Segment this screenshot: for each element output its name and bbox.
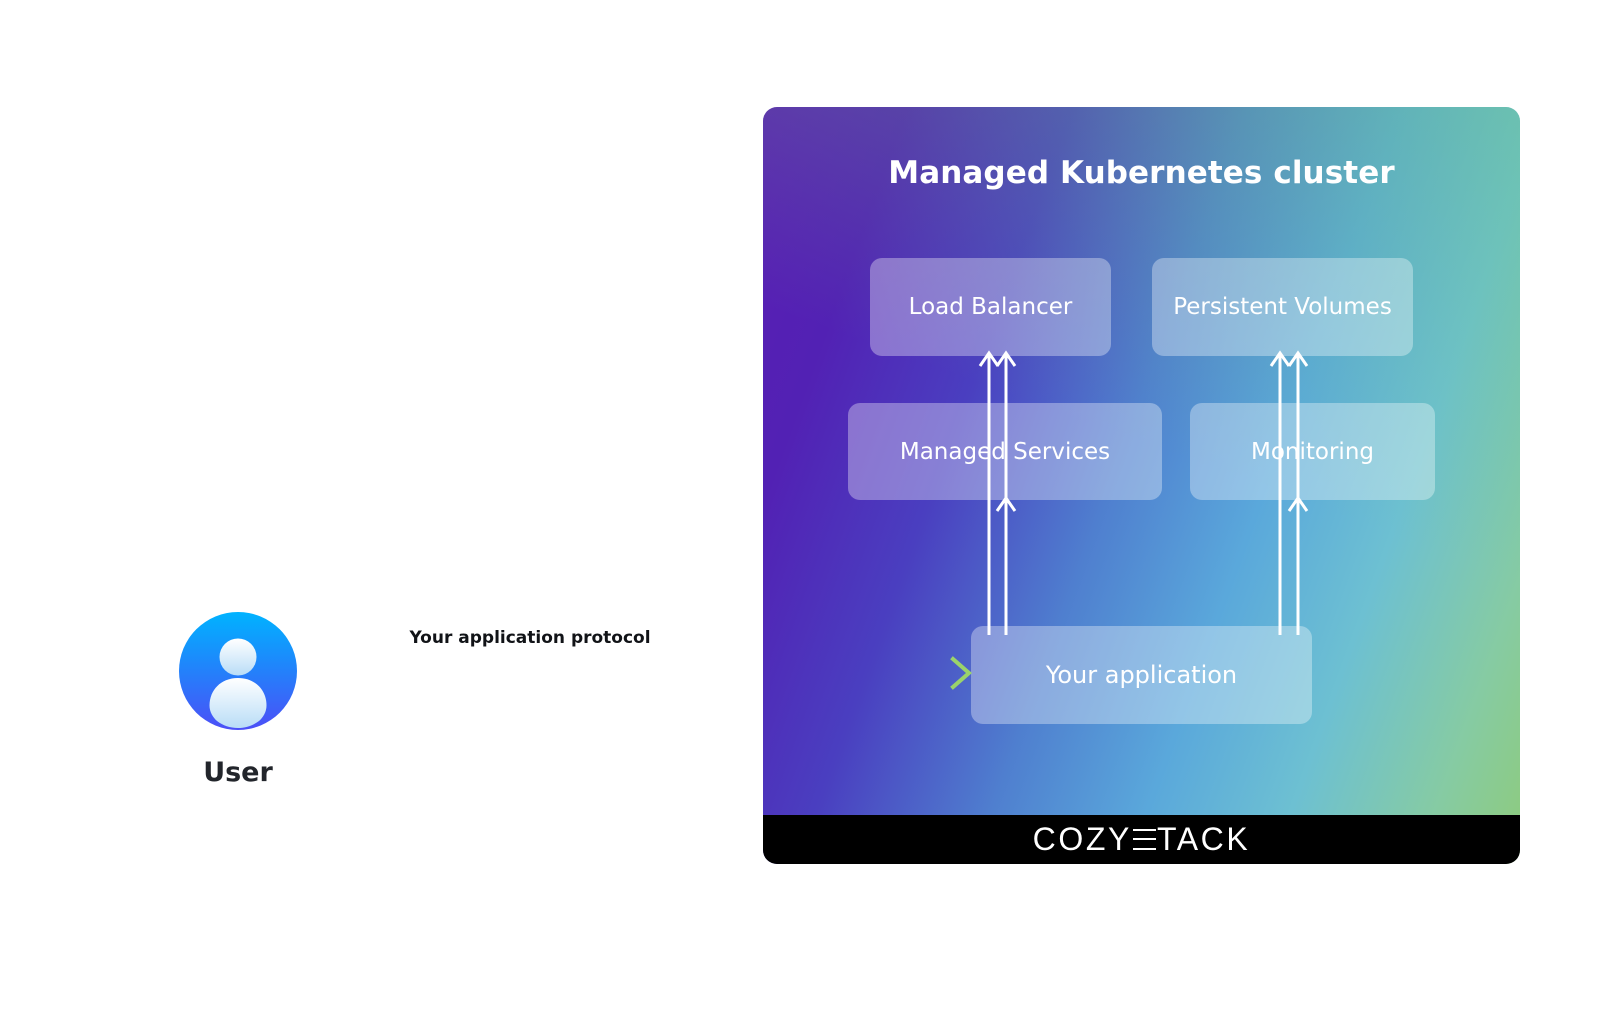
user-label: User: [139, 757, 337, 788]
cluster-node-layer: Load Balancer Persistent Volumes Managed…: [763, 107, 1520, 864]
cozystack-logo: COZYTACK: [1033, 821, 1251, 858]
node-persistent-volumes-label: Persistent Volumes: [1173, 294, 1392, 320]
user-avatar-icon: [179, 612, 297, 730]
node-load-balancer[interactable]: Load Balancer: [870, 258, 1111, 356]
brand-bar: COZYTACK: [763, 815, 1520, 864]
connector-svg: [290, 648, 990, 700]
user-to-application-connector: [290, 648, 990, 700]
node-monitoring[interactable]: Monitoring: [1190, 403, 1435, 500]
node-load-balancer-label: Load Balancer: [909, 294, 1073, 320]
node-monitoring-label: Monitoring: [1251, 439, 1374, 465]
xi-logo-mark-icon: [1133, 829, 1156, 851]
node-managed-services-label: Managed Services: [900, 439, 1110, 465]
brand-text-after: TACK: [1157, 821, 1250, 858]
node-your-application-label: Your application: [1046, 661, 1237, 689]
user-avatar-svg: [179, 612, 297, 730]
node-persistent-volumes[interactable]: Persistent Volumes: [1152, 258, 1413, 356]
node-managed-services[interactable]: Managed Services: [848, 403, 1162, 500]
diagram-canvas: User Your application protocol Managed K…: [0, 0, 1617, 1024]
protocol-label: Your application protocol: [330, 628, 730, 648]
cluster-title: Managed Kubernetes cluster: [763, 155, 1520, 191]
managed-kubernetes-cluster-panel: Managed Kubernetes cluster: [763, 107, 1520, 864]
node-your-application[interactable]: Your application: [971, 626, 1312, 724]
brand-text-before: COZY: [1033, 821, 1132, 858]
